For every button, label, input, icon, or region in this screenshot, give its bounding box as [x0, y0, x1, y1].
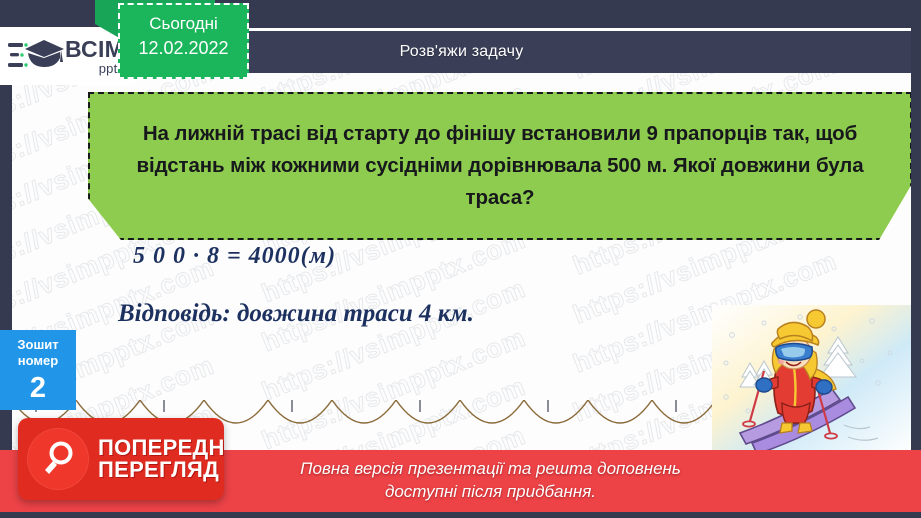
purchase-banner-text: Повна версія презентації та решта доповн… — [240, 458, 681, 504]
presentation-slide: https://vsimpptx.com https://vsimpptx.co… — [0, 0, 921, 518]
solution-area: 5 0 0 · 8 = 4000(м) Відповідь: довжина т… — [0, 243, 899, 328]
page-title: Розв'яжи задачу — [400, 43, 524, 61]
window-frame-bottom — [0, 512, 921, 518]
preview-badge-line1: ПОПЕРЕДНІЙ — [98, 437, 224, 459]
notebook-number: 2 — [0, 374, 76, 403]
preview-badge-labels: ПОПЕРЕДНІЙ ПЕРЕГЛЯД — [98, 437, 224, 482]
watermark-text: https://vsimpptx.com — [569, 73, 841, 84]
window-frame-right — [911, 0, 921, 518]
graduation-cap-icon — [8, 36, 64, 76]
preview-badge-line2: ПЕРЕГЛЯД — [98, 459, 224, 481]
brand-suffix: pptx — [65, 62, 124, 75]
date-badge-label: Сьогодні — [120, 13, 247, 34]
preview-badge[interactable]: ПОПЕРЕДНІЙ ПЕРЕГЛЯД — [18, 418, 224, 500]
notebook-number-tab: Зошит номер 2 — [0, 330, 76, 410]
notebook-label-line1: Зошит — [0, 337, 76, 353]
date-badge-value: 12.02.2022 — [120, 37, 247, 60]
solution-equation: 5 0 0 · 8 = 4000(м) — [133, 243, 899, 270]
preview-icon-circle — [27, 428, 89, 490]
task-text: На лижній трасі від старту до фінішу вст… — [120, 118, 880, 213]
brand-name: ВСІМ — [65, 38, 124, 61]
solution-answer: Відповідь: довжина траси 4 км. — [118, 300, 899, 328]
task-card: На лижній трасі від старту до фінішу вст… — [88, 92, 912, 240]
brand-logo[interactable]: ВСІМ pptx — [0, 27, 135, 85]
purchase-banner-line2: доступні після придбання. — [300, 481, 681, 504]
date-badge: Сьогодні 12.02.2022 — [118, 3, 249, 79]
notebook-label-line2: номер — [0, 353, 76, 369]
search-icon — [38, 439, 78, 479]
purchase-banner-line1: Повна версія презентації та решта доповн… — [300, 458, 681, 481]
brand-logo-text: ВСІМ pptx — [65, 38, 124, 75]
